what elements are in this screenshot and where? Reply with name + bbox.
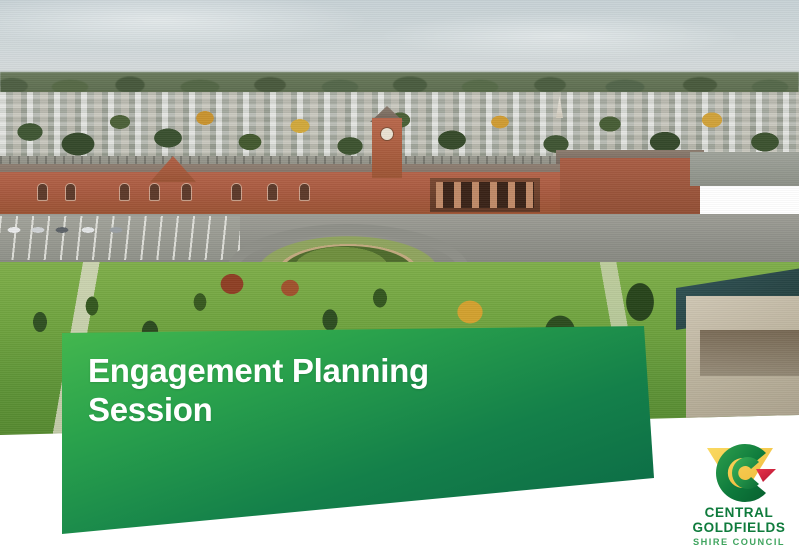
station-wing (560, 158, 700, 220)
logo-line-goldfields: GOLDFIELDS (684, 521, 794, 536)
station-window (120, 184, 129, 200)
hero-photo (0, 0, 799, 440)
aerial-town-photograph (0, 0, 799, 440)
station-window (268, 184, 277, 200)
council-logo-wordmark: CENTRAL GOLDFIELDS SHIRE COUNCIL (684, 506, 794, 551)
logo-line-central: CENTRAL (684, 506, 794, 521)
tower-clock-face (381, 128, 393, 140)
modern-building-shade (700, 330, 799, 376)
station-portico (430, 178, 540, 212)
logo-line-shire-council: SHIRE COUNCIL (684, 535, 794, 551)
council-logo: CENTRAL GOLDFIELDS SHIRE COUNCIL (684, 440, 794, 552)
station-window (150, 184, 159, 200)
slide-canvas: Engagement Planning Session (0, 0, 799, 560)
station-window (66, 184, 75, 200)
station-window (38, 184, 47, 200)
station-window (232, 184, 241, 200)
station-window (300, 184, 309, 200)
clock-tower (372, 118, 402, 178)
council-logo-mark-icon (702, 440, 778, 506)
station-window (182, 184, 191, 200)
distant-shed-buildings (690, 152, 799, 186)
parked-cars (4, 222, 154, 238)
